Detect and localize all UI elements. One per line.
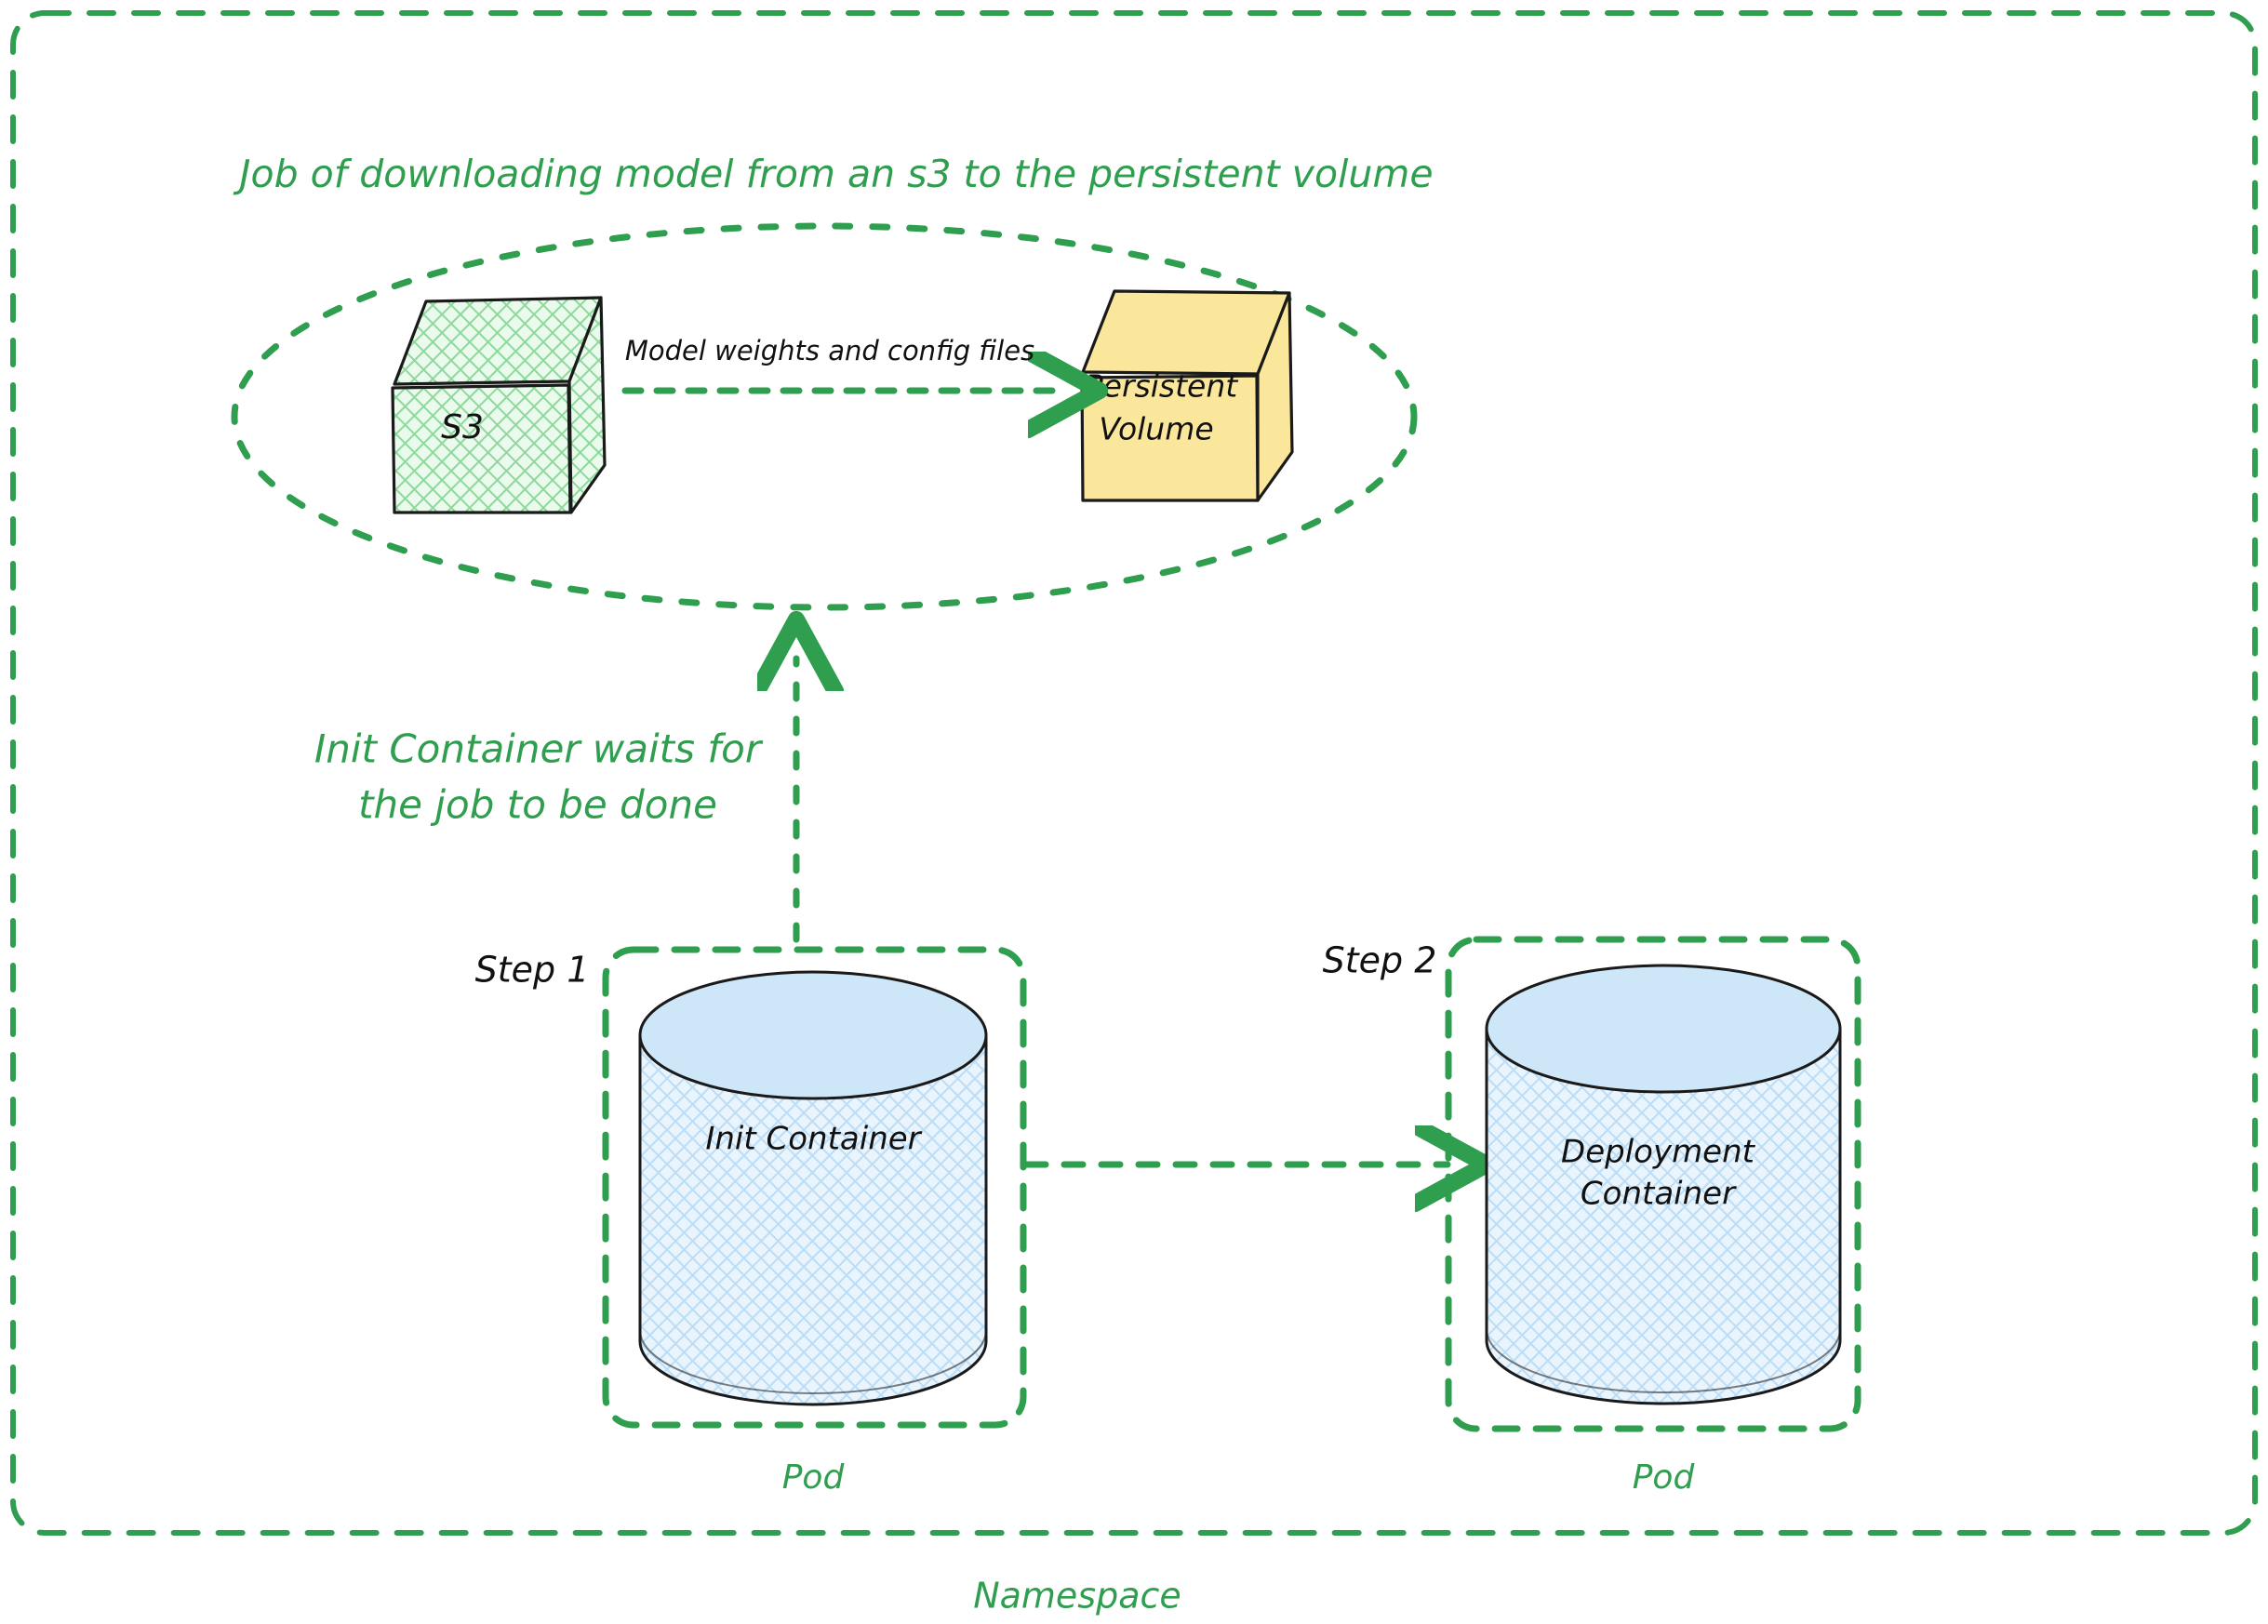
s3-label: S3: [441, 408, 484, 446]
init-container-cylinder: [640, 972, 986, 1404]
init-container-label: Init Container: [705, 1121, 922, 1158]
step-1-label: Step 1: [475, 950, 590, 991]
diagram-svg: S3 Persistent Volume Init Container Step…: [0, 0, 2268, 1624]
namespace-label: Namespace: [973, 1576, 1181, 1617]
deployment-container-label-line2: Container: [1581, 1176, 1737, 1213]
init-wait-label-line2: the job to be done: [358, 782, 717, 828]
namespace-boundary: [13, 13, 2255, 1533]
persistent-volume-label-line1: Persistent: [1085, 368, 1238, 405]
model-transfer-label: Model weights and config files: [625, 335, 1034, 366]
persistent-volume-label-line2: Volume: [1099, 411, 1213, 447]
step-2-label: Step 2: [1323, 940, 1437, 981]
job-group-title: Job of downloading model from an s3 to t…: [233, 152, 1433, 196]
deployment-container-label-line1: Deployment: [1561, 1134, 1756, 1171]
diagram-canvas: S3 Persistent Volume Init Container Step…: [0, 0, 2268, 1624]
s3-cube: [393, 298, 605, 512]
pod-2-label: Pod: [1633, 1458, 1696, 1497]
pod-1-label: Pod: [782, 1458, 846, 1497]
init-wait-label-line1: Init Container waits for: [314, 726, 764, 772]
